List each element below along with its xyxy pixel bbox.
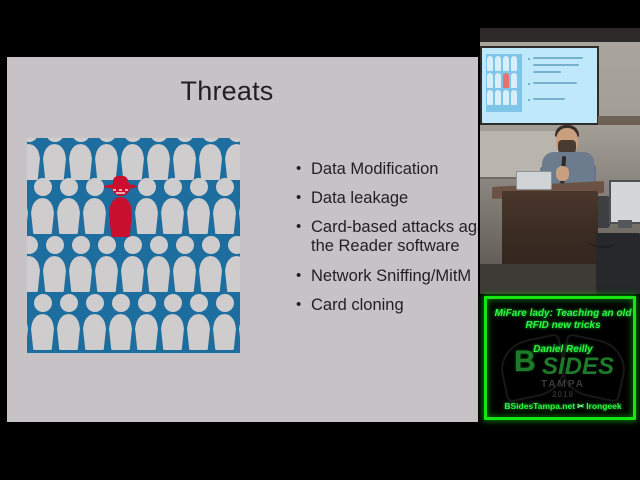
speaker-hand bbox=[556, 166, 569, 181]
crowd-row bbox=[27, 178, 240, 234]
monitor bbox=[609, 180, 640, 224]
slide-bullet-list: Data Modification Data leakage Card-base… bbox=[256, 160, 478, 325]
bullet-item: Network Sniffing/MitM bbox=[296, 267, 478, 286]
crowd-row bbox=[27, 294, 240, 350]
laptop bbox=[516, 171, 552, 190]
ceiling bbox=[480, 28, 640, 42]
logo-word-sides: SIDES bbox=[542, 353, 614, 381]
talk-title: MiFare lady: Teaching an old RFID new tr… bbox=[492, 308, 634, 332]
projected-slide bbox=[482, 48, 597, 123]
wall-trim bbox=[598, 116, 640, 125]
bullet-item: Data Modification bbox=[296, 160, 478, 179]
bullet-item: Data leakage bbox=[296, 189, 478, 208]
presentation-slide: Threats bbox=[7, 57, 478, 422]
bullet-item: Card-based attacks against the Reader so… bbox=[296, 218, 478, 256]
logo-year: 2018 bbox=[487, 390, 636, 399]
talk-title-card: B SIDES TAMPA 2018 MiFare lady: Teaching… bbox=[484, 296, 636, 420]
screen: Threats bbox=[0, 0, 640, 480]
footer-site: BSidesTampa.net bbox=[504, 401, 575, 411]
crowd-illustration bbox=[27, 138, 240, 353]
crowd-row bbox=[27, 138, 240, 180]
crowd-row bbox=[27, 236, 240, 292]
speaker-video-feed bbox=[480, 28, 640, 294]
red-attacker-figure bbox=[109, 178, 132, 234]
logo-city: TAMPA bbox=[487, 379, 636, 390]
scissors-icon: ✂ bbox=[577, 401, 584, 411]
speaker-name: Daniel Reilly bbox=[492, 344, 634, 355]
projected-crowd-illustration bbox=[486, 54, 522, 112]
slide-title: Threats bbox=[7, 78, 447, 105]
bullet-item: Card cloning bbox=[296, 296, 478, 315]
monitor-stand bbox=[618, 220, 632, 228]
cable bbox=[588, 232, 618, 248]
title-card-footer: BSidesTampa.net✂Irongeek bbox=[487, 401, 636, 412]
footer-credit: Irongeek bbox=[586, 401, 621, 411]
